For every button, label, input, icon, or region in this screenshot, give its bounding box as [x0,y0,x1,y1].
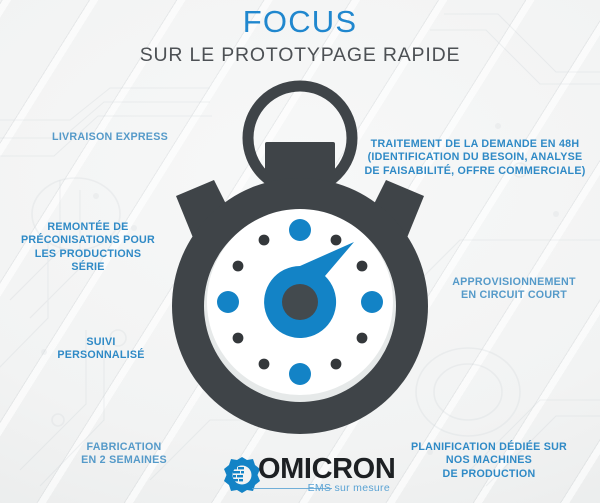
marker-5 [331,359,342,370]
logo-wordmark: OMICRON [258,454,395,484]
callout-fabrication-2-semaines: FABRICATION EN 2 SEMAINES [48,441,200,468]
marker-4 [357,333,368,344]
logo-tagline: EMS sur mesure [286,482,390,494]
marker-6 [289,363,311,385]
stopwatch-crown [265,142,335,182]
callout-livraison-express: LIVRAISON EXPRESS [30,131,190,144]
omicron-logo: OMICRON EMS sur mesure [222,452,390,500]
marker-11 [259,235,270,246]
page-subtitle: SUR LE PROTOTYPAGE RAPIDE [0,44,600,67]
gear-icon [222,454,262,496]
marker-12 [289,219,311,241]
marker-7 [259,359,270,370]
callout-planification-dediee: PLANIFICATION DÉDIÉE SUR NOS MACHINES DE… [386,441,592,481]
callout-suivi-personnalise: SUIVI PERSONNALISÉ [28,336,174,363]
callout-traitement-demande: TRAITEMENT DE LA DEMANDE EN 48H (IDENTIF… [360,138,590,178]
marker-8 [233,333,244,344]
callout-remontee-preconisations: REMONTÉE DE PRÉCONISATIONS POUR LES PROD… [4,221,172,275]
callout-approvisionnement-circuit-court: APPROVISIONNEMENT EN CIRCUIT COURT [434,276,594,303]
stopwatch-hand-hub [282,284,318,320]
marker-9 [217,291,239,313]
marker-1 [331,235,342,246]
marker-10 [233,261,244,272]
page-title: FOCUS [0,4,600,40]
marker-2 [357,261,368,272]
infographic-poster: FOCUS SUR LE PROTOTYPAGE RAPIDE [0,0,600,503]
marker-3 [361,291,383,313]
